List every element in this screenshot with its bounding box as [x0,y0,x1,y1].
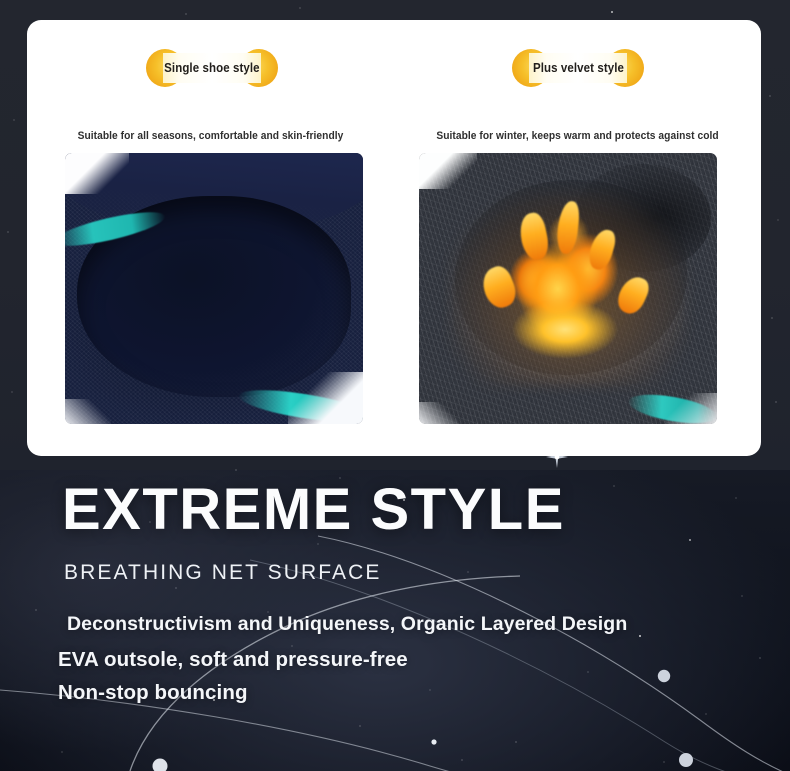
photo-corner-highlight [419,153,477,189]
product-detail-page: Single shoe style Suitable for all seaso… [0,0,790,771]
photo-corner-highlight [65,153,129,194]
photo-corner-highlight [419,402,459,424]
flame-graphic [473,207,658,364]
hero-feature-line: Deconstructivism and Uniqueness, Organic… [67,613,678,636]
hero-feature-line: Non-stop bouncing [58,681,678,705]
hero-feature-line: EVA outsole, soft and pressure-free [58,648,678,672]
product-photo-fleece-flame [419,153,717,424]
photo-corner-highlight [65,399,111,424]
badge-single-shoe-style: Single shoe style [147,48,277,88]
hero-feature-list: Deconstructivism and Uniqueness, Organic… [58,613,678,705]
feature-comparison-card: Single shoe style Suitable for all seaso… [27,20,761,456]
badge-label: Plus velvet style [532,61,623,75]
badge-label: Single shoe style [164,61,260,75]
photo-corner-highlight [665,393,717,424]
hero-title: EXTREME STYLE [62,481,565,539]
hero-section: EXTREME STYLE BREATHING NET SURFACE Deco… [0,455,790,771]
panel-caption: Suitable for all seasons, comfortable an… [40,130,381,142]
product-photo-knit-interior [65,153,363,424]
photo-corner-highlight [288,372,363,424]
panel-caption: Suitable for winter, keeps warm and prot… [407,130,748,142]
hero-subtitle: BREATHING NET SURFACE [64,562,382,583]
badge-plus-velvet-style: Plus velvet style [513,48,643,88]
